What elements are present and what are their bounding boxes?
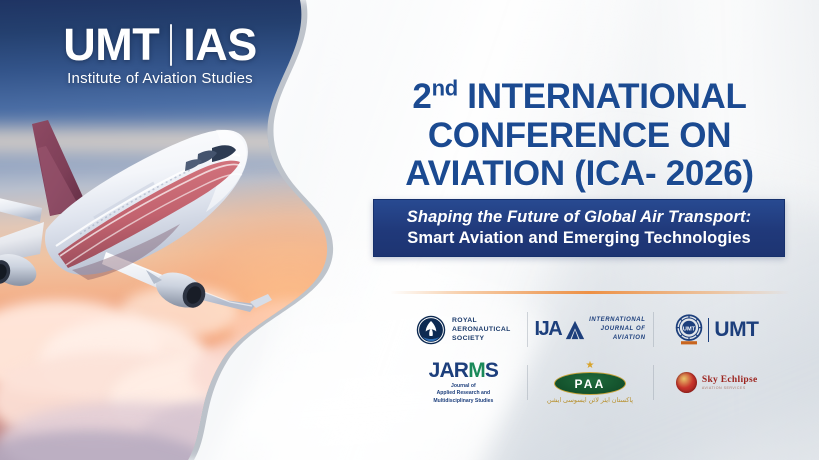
logo-umt: UMT UMT <box>653 303 780 356</box>
partner-logo-row: JARMS Journal of Applied Research and Mu… <box>400 356 780 409</box>
ija-aircraft-icon <box>565 319 585 341</box>
umt-wordmark: UMT <box>714 318 758 342</box>
brand-ias-text: IAS <box>183 22 257 67</box>
sky-echlipse-icon <box>676 372 697 393</box>
umt-crest-icon: UMT <box>675 314 703 346</box>
umt-ias-brand-lockup: UMT IAS Institute of Aviation Studies <box>40 22 280 87</box>
brand-umt-text: UMT <box>63 22 159 67</box>
conference-poster: UMT IAS Institute of Aviation Studies 2n… <box>0 0 819 460</box>
ija-lockup: IJA INTERNATIONAL JOURNAL OF AVIATION <box>535 316 646 342</box>
theme-line-2: Smart Aviation and Emerging Technologies <box>382 228 776 249</box>
ija-monogram: IJA <box>535 318 562 341</box>
paa-badge: PAA <box>554 372 626 395</box>
ras-line-2: AERONAUTICAL <box>452 325 511 334</box>
title-line-1: 2nd INTERNATIONAL <box>352 78 807 117</box>
title-ordinal-number: 2 <box>412 77 431 116</box>
brand-row: UMT IAS <box>40 22 280 67</box>
ras-lockup: ROYAL AERONAUTICAL SOCIETY <box>416 315 511 345</box>
paa-wordmark: PAA <box>574 377 605 391</box>
logo-section-divider <box>390 291 790 294</box>
logo-international-journal-of-aviation: IJA INTERNATIONAL JOURNAL OF AVIATION <box>527 303 654 356</box>
ija-line-2: JOURNAL OF <box>589 325 645 334</box>
ija-line-3: AVIATION <box>589 334 645 343</box>
partner-logo-grid: ROYAL AERONAUTICAL SOCIETY IJA <box>400 303 780 409</box>
umt-divider <box>708 318 710 342</box>
jarms-sub-2: Applied Research and <box>429 390 499 398</box>
title-ordinal-suffix: nd <box>432 75 458 100</box>
jarms-mark-b: M <box>468 359 485 382</box>
sky-echlipse-lockup: Sky Echlipse AVIATION SERVICES <box>676 372 758 393</box>
jarms-wordmark: JARMS <box>429 360 499 381</box>
paa-lockup: ★ PAA پاکستان ایئر لائن ایسوسی ایشن <box>547 361 633 404</box>
paa-urdu-text: پاکستان ایئر لائن ایسوسی ایشن <box>547 396 633 404</box>
sky-echlipse-wordmark: Sky Echlipse <box>702 375 758 386</box>
jarms-subtitle: Journal of Applied Research and Multidis… <box>429 383 499 406</box>
jarms-lockup: JARMS Journal of Applied Research and Mu… <box>429 360 499 406</box>
page-title: 2nd INTERNATIONAL CONFERENCE ON AVIATION… <box>352 78 807 194</box>
sky-echlipse-text-block: Sky Echlipse AVIATION SERVICES <box>702 375 758 390</box>
brand-divider <box>170 24 172 66</box>
sky-echlipse-tagline: AVIATION SERVICES <box>702 386 758 390</box>
logo-sky-echlipse: Sky Echlipse AVIATION SERVICES <box>653 356 780 409</box>
logo-jarms: JARMS Journal of Applied Research and Mu… <box>400 356 527 409</box>
brand-subtitle: Institute of Aviation Studies <box>40 70 280 87</box>
title-line-3: AVIATION (ICA- 2026) <box>352 155 807 194</box>
logo-royal-aeronautical-society: ROYAL AERONAUTICAL SOCIETY <box>400 303 527 356</box>
umt-lockup: UMT UMT <box>675 314 759 346</box>
ras-text-block: ROYAL AERONAUTICAL SOCIETY <box>452 316 511 344</box>
cloud <box>190 336 340 410</box>
ija-line-1: INTERNATIONAL <box>589 316 645 325</box>
ras-line-1: ROYAL <box>452 316 511 325</box>
royal-aeronautical-society-icon <box>416 315 446 345</box>
ras-line-3: SOCIETY <box>452 334 511 343</box>
jarms-mark-a: JAR <box>429 359 469 382</box>
star-icon: ★ <box>547 361 633 371</box>
ija-text-block: INTERNATIONAL JOURNAL OF AVIATION <box>589 316 645 342</box>
theme-line-1: Shaping the Future of Global Air Transpo… <box>382 207 776 228</box>
svg-text:UMT: UMT <box>683 326 696 332</box>
jarms-mark-c: S <box>485 359 498 382</box>
partner-logo-row: ROYAL AERONAUTICAL SOCIETY IJA <box>400 303 780 356</box>
conference-theme-banner: Shaping the Future of Global Air Transpo… <box>373 199 785 257</box>
title-line-1-rest: INTERNATIONAL <box>467 77 746 116</box>
poster-content: 2nd INTERNATIONAL CONFERENCE ON AVIATION… <box>352 0 819 460</box>
jarms-sub-3: Multidisciplinary Studies <box>429 398 499 406</box>
title-line-2: CONFERENCE ON <box>352 117 807 156</box>
jarms-sub-1: Journal of <box>429 383 499 391</box>
logo-pakistan-airline-association: ★ PAA پاکستان ایئر لائن ایسوسی ایشن <box>527 356 654 409</box>
